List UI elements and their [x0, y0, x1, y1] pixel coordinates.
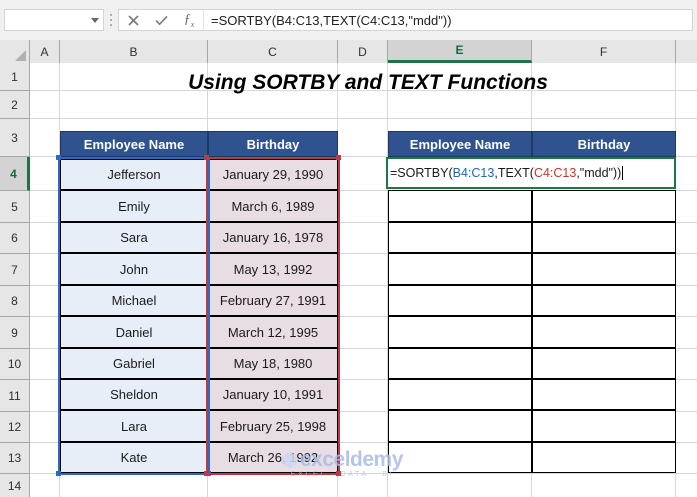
source-cell-birthday[interactable]: March 26, 1992 — [208, 442, 338, 473]
source-cell-birthday[interactable]: May 13, 1992 — [208, 253, 338, 285]
result-cell-birthday[interactable] — [532, 348, 676, 379]
select-all-corner[interactable] — [0, 40, 30, 63]
result-cell-birthday[interactable] — [532, 316, 676, 348]
result-cell-name[interactable] — [388, 316, 532, 348]
range-handle[interactable] — [336, 471, 341, 476]
formula-input[interactable]: =SORTBY(B4:C13,TEXT(C4:C13,"mdd")) — [203, 9, 693, 31]
source-cell-birthday[interactable]: February 27, 1991 — [208, 285, 338, 316]
result-cell-name[interactable] — [388, 253, 532, 285]
range-handle[interactable] — [56, 155, 61, 160]
check-icon[interactable] — [147, 10, 175, 30]
source-cell-name[interactable]: Jefferson — [60, 159, 208, 190]
source-cell-name[interactable]: Michael — [60, 285, 208, 316]
result-cell-name[interactable] — [388, 410, 532, 442]
column-header-A[interactable]: A — [30, 40, 60, 63]
result-cell-birthday[interactable] — [532, 222, 676, 253]
source-header-employee-name: Employee Name — [60, 131, 208, 157]
name-box[interactable] — [4, 9, 104, 31]
active-cell-e4[interactable]: =SORTBY(B4:C13,TEXT(C4:C13,"mdd")) — [386, 157, 676, 189]
source-cell-name[interactable]: Sara — [60, 222, 208, 253]
source-cell-name[interactable]: Sheldon — [60, 379, 208, 410]
source-cell-name[interactable]: Gabriel — [60, 348, 208, 379]
row-header-5[interactable]: 5 — [0, 191, 30, 223]
column-header-D[interactable]: D — [338, 40, 388, 63]
row-header-1[interactable]: 1 — [0, 63, 30, 91]
result-cell-birthday[interactable] — [532, 285, 676, 316]
formula-ref-c4-c13: C4:C13 — [534, 166, 576, 180]
result-cell-name[interactable] — [388, 222, 532, 253]
fx-icon[interactable]: ƒx — [175, 10, 203, 30]
column-header-E[interactable]: E — [388, 40, 532, 63]
row-header-8[interactable]: 8 — [0, 286, 30, 317]
result-header-birthday: Birthday — [532, 131, 676, 157]
range-handle[interactable] — [204, 471, 209, 476]
source-cell-birthday[interactable]: May 18, 1980 — [208, 348, 338, 379]
source-cell-name[interactable]: Daniel — [60, 316, 208, 348]
row-header-12[interactable]: 12 — [0, 412, 30, 443]
row-header-7[interactable]: 7 — [0, 254, 30, 286]
column-header-C[interactable]: C — [208, 40, 338, 63]
gridline — [30, 118, 697, 119]
row-header-13[interactable]: 13 — [0, 443, 30, 474]
gridline — [30, 473, 697, 474]
range-handle[interactable] — [204, 155, 209, 160]
source-cell-birthday[interactable]: February 25, 1998 — [208, 410, 338, 442]
result-cell-birthday[interactable] — [532, 253, 676, 285]
corner-triangle-icon — [15, 50, 26, 61]
source-cell-name[interactable]: Kate — [60, 442, 208, 473]
result-cell-birthday[interactable] — [532, 190, 676, 222]
formula-ref-b4-c13: B4:C13 — [453, 166, 495, 180]
cancel-icon[interactable] — [119, 10, 147, 30]
formula-part-3: ,"mdd")) — [576, 166, 621, 180]
chevron-down-icon[interactable] — [91, 18, 99, 23]
column-header-F[interactable]: F — [532, 40, 676, 63]
source-cell-birthday[interactable]: January 16, 1978 — [208, 222, 338, 253]
result-cell-name[interactable] — [388, 379, 532, 410]
column-header-G[interactable] — [676, 40, 697, 63]
result-cell-birthday[interactable] — [532, 410, 676, 442]
result-cell-name[interactable] — [388, 442, 532, 473]
formula-bar: ƒx =SORTBY(B4:C13,TEXT(C4:C13,"mdd")) — [0, 0, 697, 40]
row-header-3[interactable]: 3 — [0, 119, 30, 157]
row-header-11[interactable]: 11 — [0, 380, 30, 412]
text-caret — [622, 166, 623, 180]
range-handle[interactable] — [56, 471, 61, 476]
row-header-6[interactable]: 6 — [0, 223, 30, 254]
row-header-9[interactable]: 9 — [0, 317, 30, 349]
page-title: Using SORTBY and TEXT Functions — [60, 66, 676, 100]
result-cell-name[interactable] — [388, 285, 532, 316]
row-header-2[interactable]: 2 — [0, 91, 30, 119]
formula-bar-grip — [104, 9, 118, 31]
result-cell-name[interactable] — [388, 190, 532, 222]
row-header-10[interactable]: 10 — [0, 349, 30, 380]
source-cell-birthday[interactable]: March 6, 1989 — [208, 190, 338, 222]
row-header-14[interactable]: 14 — [0, 474, 30, 497]
source-cell-name[interactable]: John — [60, 253, 208, 285]
formula-part-2: ,TEXT( — [494, 166, 534, 180]
result-cell-birthday[interactable] — [532, 379, 676, 410]
column-header-B[interactable]: B — [60, 40, 208, 63]
source-cell-birthday[interactable]: January 29, 1990 — [208, 159, 338, 190]
column-header-row: A B C D E F — [0, 40, 697, 63]
source-cell-name[interactable]: Lara — [60, 410, 208, 442]
row-header-4[interactable]: 4 — [0, 157, 30, 191]
result-header-employee-name: Employee Name — [388, 131, 532, 157]
source-cell-name[interactable]: Emily — [60, 190, 208, 222]
excel-window: ƒx =SORTBY(B4:C13,TEXT(C4:C13,"mdd")) A … — [0, 0, 697, 497]
range-handle[interactable] — [336, 155, 341, 160]
source-header-birthday: Birthday — [208, 131, 338, 157]
formula-part-1: =SORTBY( — [390, 166, 453, 180]
source-cell-birthday[interactable]: January 10, 1991 — [208, 379, 338, 410]
formula-action-buttons: ƒx — [118, 9, 203, 31]
source-cell-birthday[interactable]: March 12, 1995 — [208, 316, 338, 348]
result-cell-birthday[interactable] — [532, 442, 676, 473]
result-cell-name[interactable] — [388, 348, 532, 379]
